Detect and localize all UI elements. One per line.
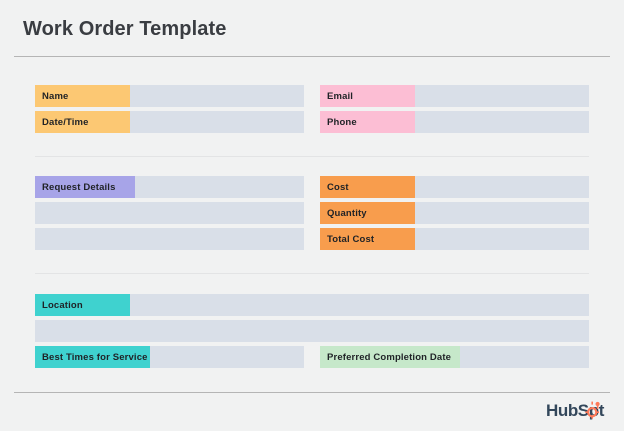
field-label-total-cost: Total Cost (320, 228, 415, 250)
field-best-times-for-service[interactable]: Best Times for Service (35, 346, 304, 368)
field-quantity[interactable]: Quantity (320, 202, 589, 224)
field-label-request-details: Request Details (35, 176, 135, 198)
field-input-cost[interactable] (415, 176, 589, 198)
field-input-location-line-2[interactable] (35, 320, 589, 342)
field-input-date-time[interactable] (130, 111, 304, 133)
field-label-cost: Cost (320, 176, 415, 198)
header-divider (14, 56, 610, 57)
field-label-name: Name (35, 85, 130, 107)
section-divider-2 (35, 273, 589, 274)
field-input-email[interactable] (415, 85, 589, 107)
field-input-preferred-completion-date[interactable] (460, 346, 589, 368)
field-label-best-times-for-service: Best Times for Service (35, 346, 150, 368)
field-cost[interactable]: Cost (320, 176, 589, 198)
field-date-time[interactable]: Date/Time (35, 111, 304, 133)
scheduling-row: Best Times for Service Preferred Complet… (35, 346, 589, 368)
field-label-phone: Phone (320, 111, 415, 133)
field-request-details-line-3[interactable] (35, 228, 304, 250)
column-contact-right: Email Phone (320, 85, 589, 133)
field-total-cost[interactable]: Total Cost (320, 228, 589, 250)
column-details-right: Cost Quantity Total Cost (320, 176, 589, 250)
section-divider-1 (35, 156, 589, 157)
field-label-email: Email (320, 85, 415, 107)
section-location: Location Best Times for Service Preferre… (35, 294, 589, 368)
field-email[interactable]: Email (320, 85, 589, 107)
field-location[interactable]: Location (35, 294, 589, 316)
section-details: Request Details Cost Quantity Total Cost (35, 176, 589, 250)
field-input-name[interactable] (130, 85, 304, 107)
field-input-request-details-line-2[interactable] (35, 202, 304, 224)
field-location-line-2[interactable] (35, 320, 589, 342)
field-input-quantity[interactable] (415, 202, 589, 224)
column-scheduling-right: Preferred Completion Date (320, 346, 589, 368)
field-input-phone[interactable] (415, 111, 589, 133)
field-input-location[interactable] (130, 294, 589, 316)
field-name[interactable]: Name (35, 85, 304, 107)
field-label-quantity: Quantity (320, 202, 415, 224)
field-request-details[interactable]: Request Details (35, 176, 304, 198)
field-label-date-time: Date/Time (35, 111, 130, 133)
field-phone[interactable]: Phone (320, 111, 589, 133)
hubspot-logo: HubSp t (546, 400, 604, 420)
page-title: Work Order Template (23, 18, 226, 41)
footer-divider (14, 392, 610, 393)
column-contact-left: Name Date/Time (35, 85, 304, 133)
field-label-preferred-completion-date: Preferred Completion Date (320, 346, 460, 368)
field-label-location: Location (35, 294, 130, 316)
field-preferred-completion-date[interactable]: Preferred Completion Date (320, 346, 589, 368)
column-scheduling-left: Best Times for Service (35, 346, 304, 368)
field-input-best-times-for-service[interactable] (150, 346, 304, 368)
field-request-details-line-2[interactable] (35, 202, 304, 224)
field-input-request-details-line-3[interactable] (35, 228, 304, 250)
work-order-template-page: Work Order Template Name Date/Time Email… (0, 0, 624, 431)
section-contact: Name Date/Time Email Phone (35, 85, 589, 133)
field-input-request-details[interactable] (135, 176, 304, 198)
field-input-total-cost[interactable] (415, 228, 589, 250)
column-details-left: Request Details (35, 176, 304, 250)
